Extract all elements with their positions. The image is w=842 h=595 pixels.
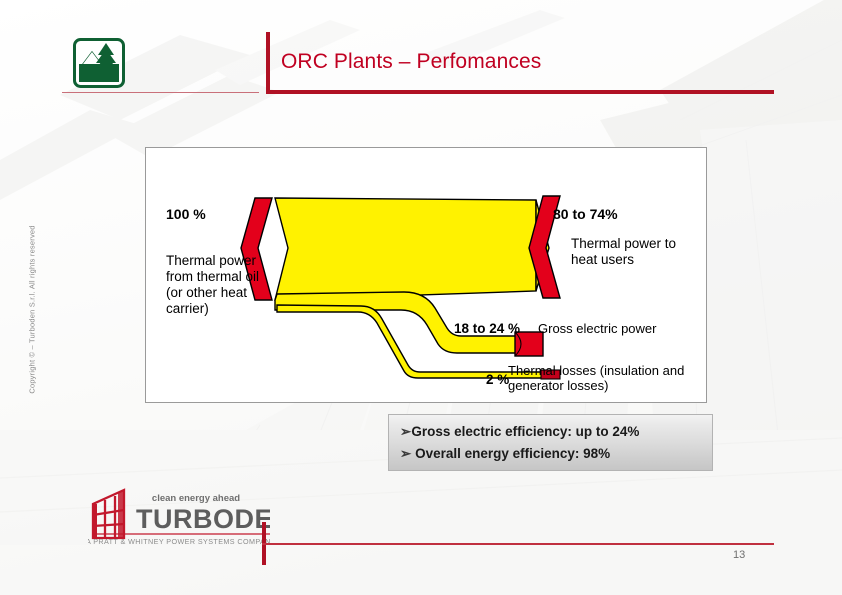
input-value-label: 100 %: [166, 206, 206, 223]
turboden-mark-icon: [93, 490, 124, 538]
brand-name: TURBODEN: [136, 504, 270, 534]
electric-output-description-label: Gross electric power: [538, 321, 656, 336]
bullet-arrow-icon-2: ➢: [400, 446, 411, 461]
footer-divider-rule: [262, 543, 774, 545]
copyright-notice: Copyright © – Turboden S.r.l. All rights…: [28, 190, 37, 430]
page-title: ORC Plants – Perfomances: [281, 50, 541, 74]
electric-output-value-label: 18 to 24 %: [454, 321, 520, 337]
heat-output-description-label: Thermal power to heat users: [571, 236, 701, 268]
efficiency-line-1: ➢Gross electric efficiency: up to 24%: [400, 424, 639, 440]
efficiency-summary-box: ➢Gross electric efficiency: up to 24% ➢ …: [388, 414, 713, 471]
page-number: 13: [733, 549, 745, 561]
sankey-diagram-panel: 100 % Thermal power from thermal oil (or…: [145, 147, 707, 403]
brand-tagline: clean energy ahead: [152, 493, 240, 504]
losses-value-label: 2 %: [486, 372, 509, 388]
efficiency-line-2: ➢ Overall energy efficiency: 98%: [400, 446, 610, 462]
losses-description-label: Thermal losses (insulation and generator…: [508, 363, 708, 394]
efficiency-line-2-text: Overall energy efficiency: 98%: [415, 446, 610, 461]
turboden-logo: clean energy ahead TURBODEN A PRATT & WH…: [88, 484, 270, 548]
heat-output-value-label: 80 to 74%: [553, 206, 618, 223]
efficiency-line-1-text: Gross electric efficiency: up to 24%: [411, 424, 639, 439]
input-description-label: Thermal power from thermal oil (or other…: [166, 253, 278, 317]
header-divider-rule: [62, 92, 259, 93]
bullet-arrow-icon: ➢: [400, 424, 411, 439]
slide-canvas: ORC Plants – Perfomances Copyright © – T…: [0, 0, 842, 595]
forest-mountain-icon: [73, 38, 125, 88]
brand-subtitle: A PRATT & WHITNEY POWER SYSTEMS COMPANY: [88, 537, 270, 546]
